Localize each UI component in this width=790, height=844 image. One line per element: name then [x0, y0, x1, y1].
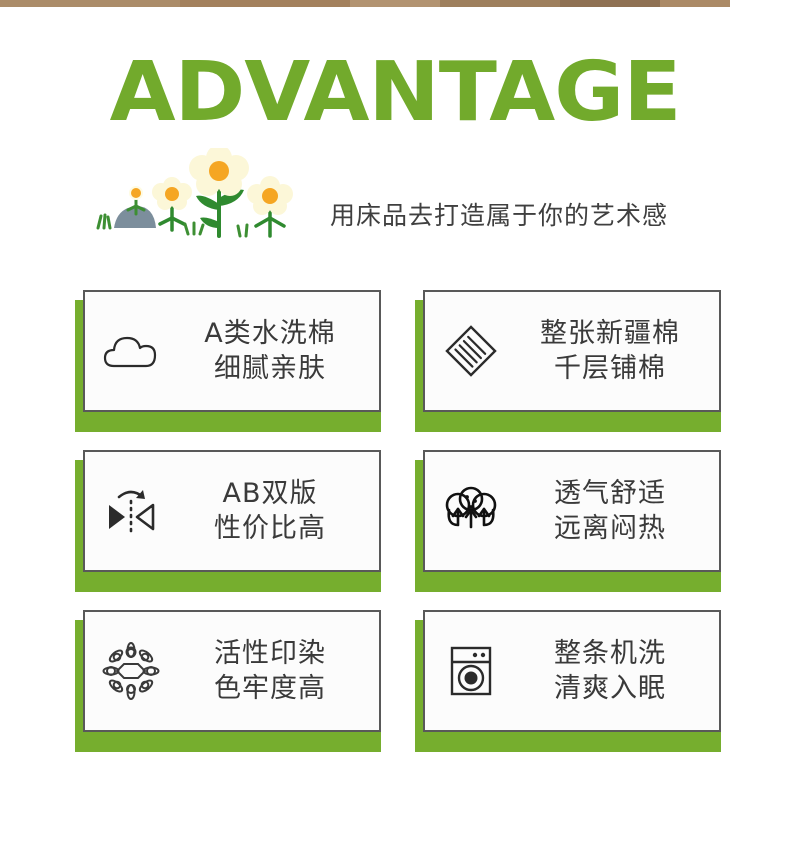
card-line1: A类水洗棉 — [171, 316, 369, 351]
card-text: 透气舒适 远离闷热 — [511, 476, 719, 546]
card-line2: 细腻亲肤 — [171, 351, 369, 386]
advantage-card-4[interactable]: 透气舒适 远离闷热 — [415, 450, 721, 582]
reactive-dye-floral-icon — [85, 612, 171, 730]
card-line2: 性价比高 — [171, 511, 369, 546]
card-line2: 千层铺棉 — [511, 351, 709, 386]
card-body[interactable]: 整条机洗 清爽入眠 — [423, 610, 721, 732]
card-line1: AB双版 — [171, 476, 369, 511]
card-row: 活性印染 色牢度高 — [0, 610, 790, 770]
card-text: A类水洗棉 细腻亲肤 — [171, 316, 379, 386]
card-row: A类水洗棉 细腻亲肤 — [0, 290, 790, 450]
advantage-page: ADVANTAGE — [0, 0, 790, 844]
cloud-icon — [85, 292, 171, 410]
breathable-airflow-icon — [425, 452, 511, 570]
card-text: AB双版 性价比高 — [171, 476, 379, 546]
card-line1: 整条机洗 — [511, 636, 709, 671]
advantage-card-3[interactable]: AB双版 性价比高 — [75, 450, 381, 582]
card-body[interactable]: 活性印染 色牢度高 — [83, 610, 381, 732]
advantage-card-2[interactable]: 整张新疆棉 千层铺棉 — [415, 290, 721, 422]
card-text: 整张新疆棉 千层铺棉 — [511, 316, 719, 386]
card-row: AB双版 性价比高 — [0, 450, 790, 610]
card-line2: 色牢度高 — [171, 671, 369, 706]
page-title: ADVANTAGE — [0, 52, 790, 134]
washing-machine-icon — [425, 612, 511, 730]
card-body[interactable]: 透气舒适 远离闷热 — [423, 450, 721, 572]
card-body[interactable]: AB双版 性价比高 — [83, 450, 381, 572]
card-text: 整条机洗 清爽入眠 — [511, 636, 719, 706]
quilted-layers-icon — [425, 292, 511, 410]
card-line1: 透气舒适 — [511, 476, 709, 511]
top-photo-strip — [0, 0, 790, 7]
tagline: 用床品去打造属于你的艺术感 — [330, 199, 710, 233]
flip-reversible-icon — [85, 452, 171, 570]
card-text: 活性印染 色牢度高 — [171, 636, 379, 706]
card-line2: 清爽入眠 — [511, 671, 709, 706]
card-body[interactable]: 整张新疆棉 千层铺棉 — [423, 290, 721, 412]
advantage-card-1[interactable]: A类水洗棉 细腻亲肤 — [75, 290, 381, 422]
card-body[interactable]: A类水洗棉 细腻亲肤 — [83, 290, 381, 412]
advantage-card-grid: A类水洗棉 细腻亲肤 — [0, 290, 790, 770]
daisy-garden-illustration — [84, 148, 304, 248]
advantage-card-5[interactable]: 活性印染 色牢度高 — [75, 610, 381, 742]
card-line2: 远离闷热 — [511, 511, 709, 546]
card-line1: 整张新疆棉 — [511, 316, 709, 351]
card-line1: 活性印染 — [171, 636, 369, 671]
advantage-card-6[interactable]: 整条机洗 清爽入眠 — [415, 610, 721, 742]
